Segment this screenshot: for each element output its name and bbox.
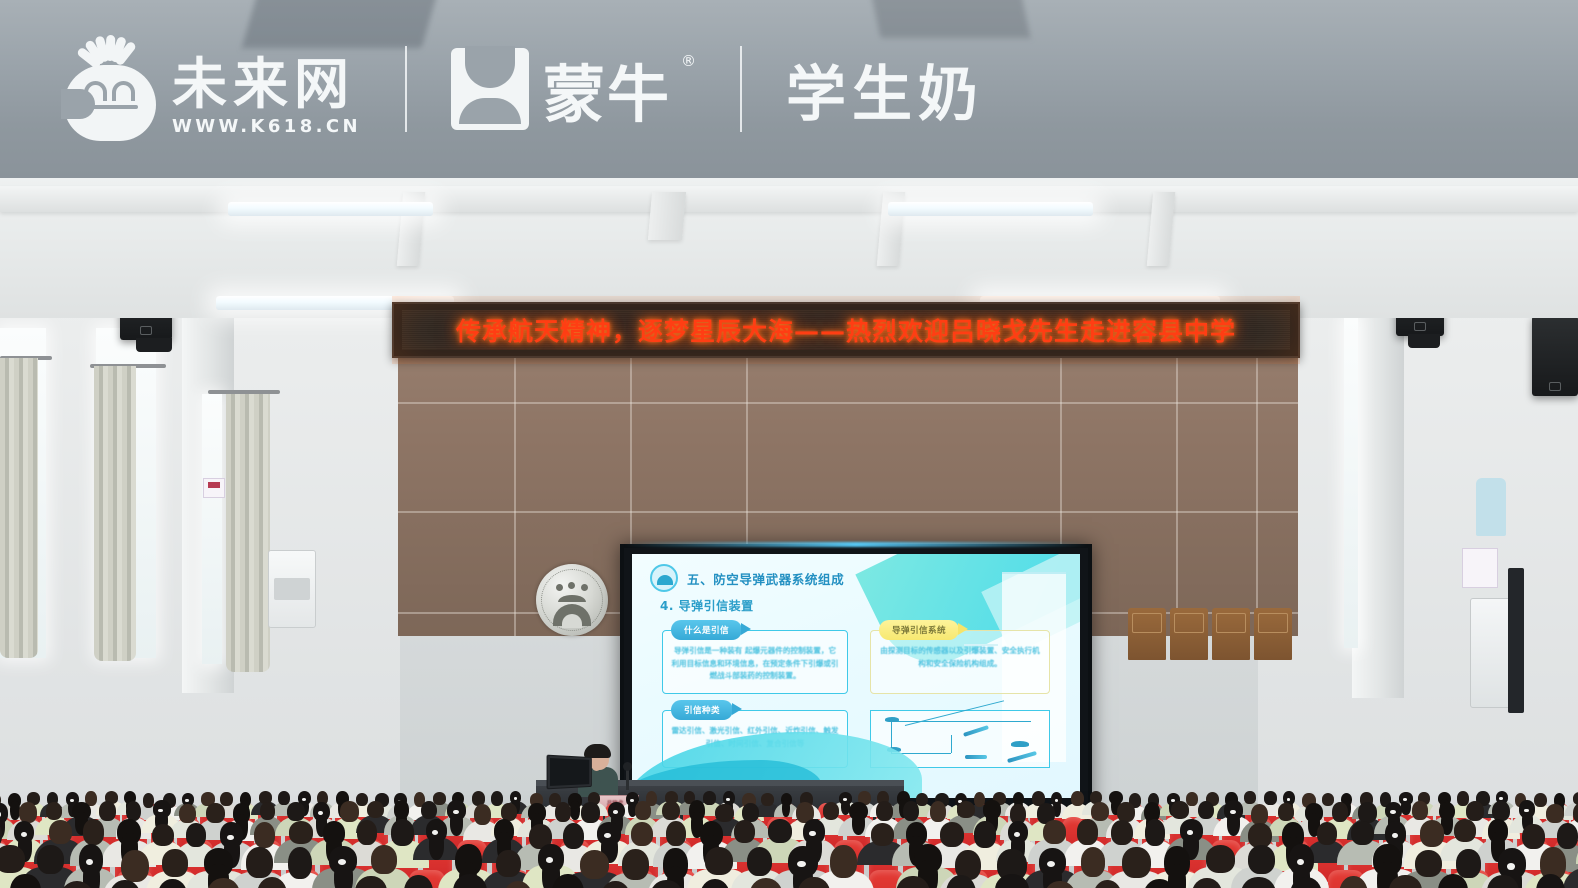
- air-conditioner-vent-left: [274, 578, 310, 600]
- audience-member-head: [1351, 821, 1374, 845]
- audience-member-head: [1534, 793, 1547, 807]
- audience-member-hairtie: [1187, 830, 1194, 835]
- notice-board-right: [1462, 548, 1498, 588]
- k618-logo-text: 未来网: [172, 56, 355, 112]
- wall-poster-left: [203, 478, 225, 498]
- audience-member-hair: [1227, 811, 1240, 836]
- audience-member-head: [1415, 850, 1442, 878]
- audience-member-hairtie: [185, 799, 189, 802]
- audience-member-head: [246, 847, 273, 878]
- audience-member-head: [1522, 824, 1545, 849]
- right-wall: [1258, 298, 1578, 828]
- audience-member-head: [1111, 820, 1133, 845]
- audience-member-head: [580, 850, 609, 879]
- audience-member-head: [1077, 819, 1098, 844]
- water-tank: [1476, 478, 1506, 536]
- audience-member-head: [37, 845, 64, 874]
- speaker-bracket-right: [1408, 334, 1440, 348]
- window-right-1: [1344, 318, 1358, 648]
- audience-member-head: [491, 791, 504, 806]
- audience-member-head: [1071, 791, 1084, 806]
- audience-member-hairtie: [1014, 832, 1020, 837]
- projection-screen: 五、防空导弹武器系统组成 4. 导弹引信装置 什么是引信 导弹引信是一种装有 起…: [620, 544, 1092, 810]
- audience-member-head: [974, 821, 996, 848]
- audience-member-head: [1091, 802, 1110, 821]
- audience-member-head: [121, 850, 149, 882]
- audience-member-head: [1122, 847, 1150, 878]
- audience-member-head: [666, 821, 686, 846]
- slide-card-fuze-system: 导弹引信系统 由探测目标的传感器以及引爆装置、安全执行机构和安全保险机构组成。: [870, 630, 1050, 694]
- audience-member-head: [555, 802, 572, 822]
- audience-member-hairtie: [302, 798, 306, 801]
- audience-member-hairtie: [1390, 810, 1395, 814]
- curtain-left-3: [226, 394, 270, 672]
- wooden-chair-4: [1254, 608, 1292, 660]
- projection-screen-glow: [624, 542, 1088, 547]
- audience-member-head: [83, 819, 104, 844]
- audience-member-head: [1171, 801, 1189, 819]
- audience-member-head: [340, 801, 359, 822]
- wall-monitor-right[interactable]: [1532, 316, 1578, 396]
- audience-member-head: [1457, 791, 1469, 805]
- ceiling-light-1: [228, 202, 433, 216]
- audience-member-head: [260, 802, 276, 820]
- audience-member-head: [871, 823, 894, 846]
- audience-member-head: [940, 822, 964, 847]
- audience-member-hair: [1401, 799, 1411, 815]
- speaker-bracket-left: [136, 338, 172, 352]
- audience-member-head: [496, 850, 521, 878]
- k618-logo: 未来网 WWW.K618.CN: [58, 37, 361, 141]
- audience-member-head: [1546, 804, 1564, 823]
- sponsor-banner: 未来网 WWW.K618.CN 蒙牛 ® 学生奶: [0, 0, 1578, 178]
- audience-member-head: [162, 849, 188, 877]
- audience-member-head: [1248, 845, 1275, 874]
- wooden-chair-2: [1170, 608, 1208, 660]
- screenshot-root: 未来网 WWW.K618.CN 蒙牛 ® 学生奶: [0, 0, 1578, 888]
- audience-member-head: [1043, 820, 1066, 844]
- audience-member-hairtie: [1230, 810, 1236, 814]
- audience-member-head: [1145, 819, 1165, 846]
- audience-member-hairtie: [726, 798, 730, 801]
- audience-member-head: [179, 804, 196, 823]
- audience-member-hairtie: [843, 798, 847, 801]
- window-left-3: [202, 394, 222, 664]
- audience-member-head: [622, 849, 649, 880]
- audience-member-hairtie: [21, 832, 27, 837]
- audience-member-head: [391, 819, 414, 846]
- laptop-icon: [547, 755, 592, 790]
- ceiling-light-2: [888, 202, 1093, 216]
- school-emblem: [536, 564, 608, 636]
- audience-member-head: [734, 820, 755, 843]
- audience-member-head: [903, 801, 919, 822]
- audience-member-head: [1244, 791, 1255, 804]
- audience-member-hairtie: [514, 797, 517, 800]
- audience-member-head: [254, 822, 275, 849]
- audience-member-head: [563, 823, 584, 850]
- audience-member-hairtie: [1499, 797, 1503, 800]
- audience-member-head: [356, 793, 368, 806]
- water-cooler: [1470, 598, 1512, 708]
- audience-member-hair: [334, 861, 354, 888]
- cooler-column: [1508, 568, 1524, 713]
- slide-title: 五、防空导弹武器系统组成: [687, 569, 844, 588]
- slide-card-body: 导弹引信是一种装有 起爆元器件的控制装置，它利用目标信息和环境信息，在预定条件下…: [663, 631, 847, 689]
- slide-badge-icon: [650, 564, 678, 592]
- mengniu-logo-text: 蒙牛: [543, 44, 671, 134]
- audience-member-head: [1081, 847, 1106, 876]
- led-banner-text: 传承航天精神，逐梦星辰大海——热烈欢迎吕晓戈先生走进容县中学: [456, 312, 1236, 348]
- audience-member-head: [1420, 820, 1444, 847]
- audience-member-head: [288, 847, 313, 879]
- audience-member-head: [1251, 804, 1268, 825]
- audience-member-head: [152, 824, 174, 847]
- audience-member-hairtie: [70, 799, 74, 802]
- audience-member-head: [957, 801, 976, 819]
- audience-member-head: [357, 820, 377, 845]
- logo-divider-1: [405, 46, 407, 132]
- logo-divider-2: [740, 46, 742, 132]
- audience-member-head: [930, 801, 947, 822]
- audience-member-head: [768, 819, 792, 843]
- wooden-chair-1: [1128, 608, 1166, 660]
- k618-logo-url: WWW.K618.CN: [172, 116, 361, 137]
- audience-member-head: [1206, 845, 1235, 873]
- audience-member-hairtie: [1055, 799, 1058, 802]
- audience-member-head: [705, 847, 733, 875]
- curtain-left-1: [0, 358, 38, 658]
- audience-member-head: [1454, 819, 1476, 842]
- audience-member-hairtie: [453, 810, 459, 814]
- slide-subtitle: 4. 导弹引信装置: [660, 597, 754, 614]
- slide-card-body: 由探测目标的传感器以及引爆装置、安全执行机构和安全保险机构组成。: [871, 631, 1049, 676]
- audience-member-head: [421, 801, 438, 820]
- xueshengnai-logo-text: 学生奶: [786, 46, 984, 133]
- audience-member-hairtie: [1403, 798, 1407, 801]
- audience-member-hairtie: [432, 830, 438, 835]
- curtain-left-2: [94, 366, 136, 661]
- registered-trademark-icon: ®: [681, 52, 696, 70]
- audience-member-head: [581, 802, 600, 823]
- audience-member-head: [916, 793, 928, 806]
- audience-member-head: [1264, 791, 1277, 805]
- audience-member-head: [46, 802, 63, 820]
- audience-member-head: [49, 820, 72, 844]
- audience-member-head: [0, 845, 25, 873]
- audience-member-head: [1322, 793, 1335, 806]
- audience-member-head: [703, 791, 716, 805]
- audience-member-head: [1358, 802, 1377, 823]
- mengniu-mark-icon: [451, 48, 529, 130]
- audience-member-head: [289, 821, 313, 844]
- wall-poster-accent-left: [208, 482, 220, 488]
- audience-member-head: [830, 845, 857, 877]
- microphone-icon: [626, 768, 629, 790]
- slide-card-what-is-fuze: 什么是引信 导弹引信是一种装有 起爆元器件的控制装置，它利用目标信息和环境信息，…: [662, 630, 848, 694]
- audience-member-head: [631, 822, 653, 846]
- audience-member-head: [876, 801, 893, 821]
- audience-member-head: [371, 845, 397, 874]
- audience-member-head: [367, 801, 384, 819]
- audience-member-head: [278, 791, 290, 805]
- audience-member-hair: [450, 811, 463, 836]
- audience-member-hair: [570, 801, 580, 820]
- pillar-right: [1352, 298, 1404, 698]
- audience-member-head: [1278, 803, 1294, 821]
- audience-member-head: [662, 801, 680, 821]
- audience-member-head: [747, 847, 773, 876]
- auditorium: 传承航天精神，逐梦星辰大海——热烈欢迎吕晓戈先生走进容县中学 五、防空导弹武器系…: [0, 178, 1578, 888]
- led-banner: 传承航天精神，逐梦星辰大海——热烈欢迎吕晓戈先生走进容县中学: [392, 302, 1300, 358]
- audience-member-head: [1557, 823, 1578, 850]
- audience-member-head: [1317, 822, 1337, 845]
- mengniu-logo: 蒙牛 ®: [451, 44, 696, 134]
- audience-member-head: [206, 803, 225, 823]
- audience-member-head: [99, 801, 116, 821]
- audience-member-head: [474, 804, 491, 825]
- wooden-chair-3: [1212, 608, 1250, 660]
- audience-member-head: [1332, 802, 1349, 822]
- audience-member-hairtie: [1287, 798, 1291, 801]
- audience-member-hair: [429, 831, 444, 860]
- audience-member-head: [1466, 801, 1485, 821]
- audience-area: [0, 788, 1578, 888]
- audience-member-head: [1186, 792, 1198, 806]
- audience-member-head: [635, 801, 651, 820]
- audience-member-head: [186, 823, 206, 847]
- presentation-slide: 五、防空导弹武器系统组成 4. 导弹引信装置 什么是引信 导弹引信是一种装有 起…: [632, 554, 1080, 798]
- audience-member-head: [19, 802, 37, 823]
- audience-member-head: [715, 804, 734, 822]
- audience-member-head: [220, 792, 233, 806]
- audience-member-hairtie: [1507, 863, 1516, 870]
- sun-face-icon: [58, 37, 162, 141]
- audience-member-hairtie: [1392, 833, 1398, 839]
- audience-member-hairtie: [227, 835, 234, 841]
- audience-member-head: [761, 793, 774, 806]
- audience-member-head: [287, 802, 305, 821]
- audience-member-head: [823, 802, 840, 820]
- audience-member-hairtie: [630, 799, 634, 802]
- audience-member-head: [1198, 801, 1215, 820]
- audience-member-head: [1456, 849, 1481, 878]
- audience-member-head: [1412, 801, 1428, 820]
- audience-member-head: [1117, 802, 1134, 822]
